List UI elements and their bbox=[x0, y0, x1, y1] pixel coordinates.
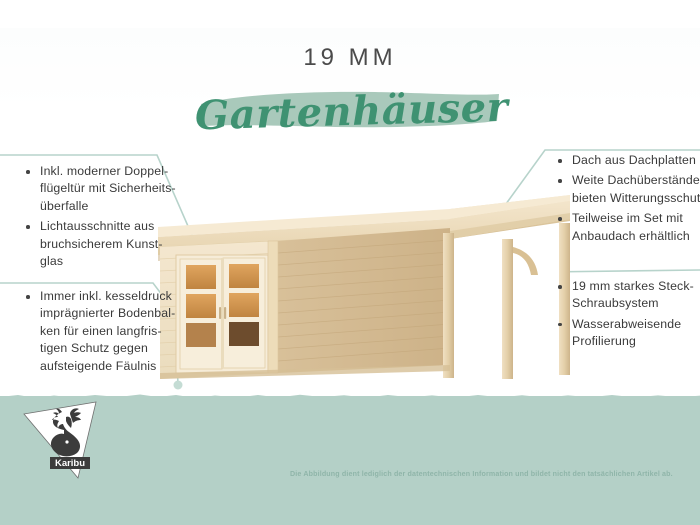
list-item: Weite Dachüberstände bieten Witterungssc… bbox=[556, 172, 700, 207]
logo-brand-text: Karibu bbox=[55, 458, 85, 469]
callout-top-right-list: Dach aus Dachplatten Weite Dachüberständ… bbox=[556, 152, 700, 245]
callout-bottom-left-list: Immer inkl. kesseldruck imprägnierter Bo… bbox=[24, 288, 184, 375]
disclaimer-text: Die Abbildung dient lediglich der datent… bbox=[290, 470, 688, 478]
list-item: Lichtausschnitte aus bruchsicherem Kunst… bbox=[24, 218, 184, 270]
callout-top-left: Inkl. moderner Doppel-flügeltür mit Sich… bbox=[24, 163, 184, 273]
list-item: Teilweise im Set mit Anbaudach erhältlic… bbox=[556, 210, 700, 245]
callout-top-right: Dach aus Dachplatten Weite Dachüberständ… bbox=[556, 152, 700, 248]
list-item: Immer inkl. kesseldruck imprägnierter Bo… bbox=[24, 288, 184, 375]
product-title: Gartenhäuser bbox=[194, 80, 505, 147]
list-item: 19 mm starkes Steck-Schraubsystem bbox=[556, 278, 700, 313]
list-item: Dach aus Dachplatten bbox=[556, 152, 700, 169]
product-title-block: Gartenhäuser bbox=[195, 84, 505, 142]
karibu-logo: Karibu bbox=[20, 400, 112, 482]
thickness-label: 19 MM bbox=[0, 44, 700, 72]
title-block: 19 MM bbox=[0, 44, 700, 72]
list-item: Inkl. moderner Doppel-flügeltür mit Sich… bbox=[24, 163, 184, 215]
callout-bottom-right-list: 19 mm starkes Steck-Schraubsystem Wasser… bbox=[556, 278, 700, 351]
list-item: Wasserabweisende Profilierung bbox=[556, 316, 700, 351]
background-top-band bbox=[0, 0, 700, 30]
callout-bottom-right: 19 mm starkes Steck-Schraubsystem Wasser… bbox=[556, 278, 700, 354]
callout-bottom-left: Immer inkl. kesseldruck imprägnierter Bo… bbox=[24, 288, 184, 378]
garden-house-illustration bbox=[150, 195, 570, 410]
callout-top-left-list: Inkl. moderner Doppel-flügeltür mit Sich… bbox=[24, 163, 184, 270]
poster-root: 19 MM Gartenhäuser bbox=[0, 0, 700, 525]
